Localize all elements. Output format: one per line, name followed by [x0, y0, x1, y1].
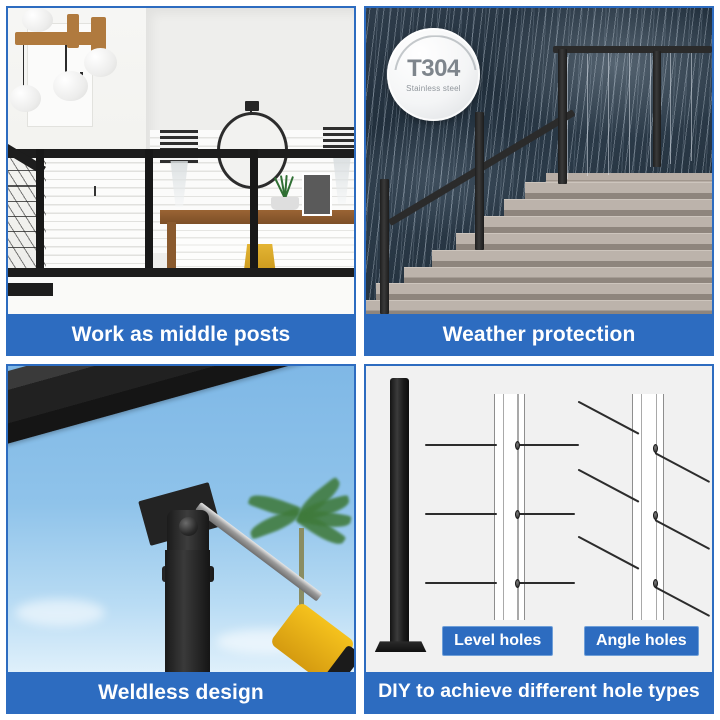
chandelier-arm-horizontal: [15, 32, 95, 45]
stair-step: [366, 300, 712, 314]
stair-post-top: [558, 49, 567, 184]
caption-diy-hole-types: DIY to achieve different hole types: [366, 672, 712, 712]
caption-work-as-middle-posts: Work as middle posts: [8, 314, 354, 354]
stair-step: [456, 233, 712, 250]
pendant-cord-2: [65, 45, 67, 73]
level-holes-post: [494, 394, 525, 620]
deck-post-right: [653, 51, 661, 167]
panel-work-as-middle-posts[interactable]: Work as middle posts: [6, 6, 356, 356]
angle-holes-post: [632, 394, 663, 620]
deck-cable: [608, 52, 609, 174]
level-cable-right: [517, 513, 576, 515]
stair-step: [404, 267, 712, 284]
panel-3-image: [8, 366, 354, 672]
panel-4-image: Level holes Angle holes: [366, 366, 712, 672]
railing-middle-post: [145, 149, 153, 278]
angle-hole: [653, 579, 658, 588]
level-cable-right: [517, 444, 579, 446]
railing-top-rail: [8, 149, 354, 158]
stair-step: [525, 182, 712, 199]
caption-weather-protection: Weather protection: [366, 314, 712, 354]
deck-cable: [587, 54, 588, 176]
cloud: [15, 599, 105, 627]
railing-post: [165, 550, 210, 672]
level-cable-left: [425, 582, 498, 584]
mirror-hook: [245, 101, 259, 110]
stair-step: [504, 199, 712, 216]
level-cable-left: [425, 513, 498, 515]
deck-top-rail: [553, 46, 712, 53]
panel-diy-hole-types[interactable]: Level holes Angle holes DIY to achieve d…: [364, 364, 714, 714]
pendant-bulb-1: [10, 85, 41, 113]
level-holes-label: Level holes: [442, 626, 553, 656]
level-cable-right: [517, 582, 576, 584]
picture-frame: [302, 173, 331, 216]
stair-step: [480, 216, 712, 233]
caption-weldless-design: Weldless design: [8, 672, 354, 712]
panel-weldless-design[interactable]: Weldless design: [6, 364, 356, 714]
t304-badge-title: T304: [407, 57, 460, 81]
lower-floor: [8, 277, 354, 314]
balcony-wall-panel: [36, 155, 147, 271]
angle-holes-label: Angle holes: [584, 626, 699, 656]
chandelier-arm-vertical: [67, 14, 79, 48]
pendant-bulb-3: [84, 48, 117, 77]
pendant-bulb-2: [53, 71, 88, 102]
table-lamp-shade-left: [160, 130, 198, 162]
plant-pot: [271, 197, 299, 210]
stair-post-middle: [475, 112, 484, 250]
railing-middle-post: [250, 149, 258, 278]
pendant-cord-1: [23, 45, 25, 91]
potted-plant: [271, 176, 299, 210]
t304-badge: T304 Stainless steel: [387, 28, 480, 121]
level-hole: [515, 441, 520, 450]
panel-weather-protection[interactable]: T304 Stainless steel Weather protection: [364, 6, 714, 356]
deck-cable: [629, 51, 630, 173]
feature-collage-grid: Work as middle posts: [0, 0, 720, 720]
level-cable-left: [425, 444, 498, 446]
panel-2-image: T304 Stainless steel: [366, 8, 712, 314]
stair-step: [432, 250, 712, 267]
panel-1-image: [8, 8, 354, 314]
black-post-base-plate: [375, 641, 427, 652]
black-post-product: [390, 378, 409, 647]
stair-step-block: [8, 283, 53, 295]
deck-cable: [650, 51, 651, 167]
t304-badge-subtitle: Stainless steel: [406, 84, 461, 93]
level-hole: [515, 579, 520, 588]
railing-middle-post: [36, 149, 44, 278]
level-hole: [515, 510, 520, 519]
deck-cable: [670, 51, 671, 164]
stair-post-bottom: [380, 179, 389, 314]
deck-cable: [691, 51, 692, 161]
stair-step: [376, 283, 712, 300]
